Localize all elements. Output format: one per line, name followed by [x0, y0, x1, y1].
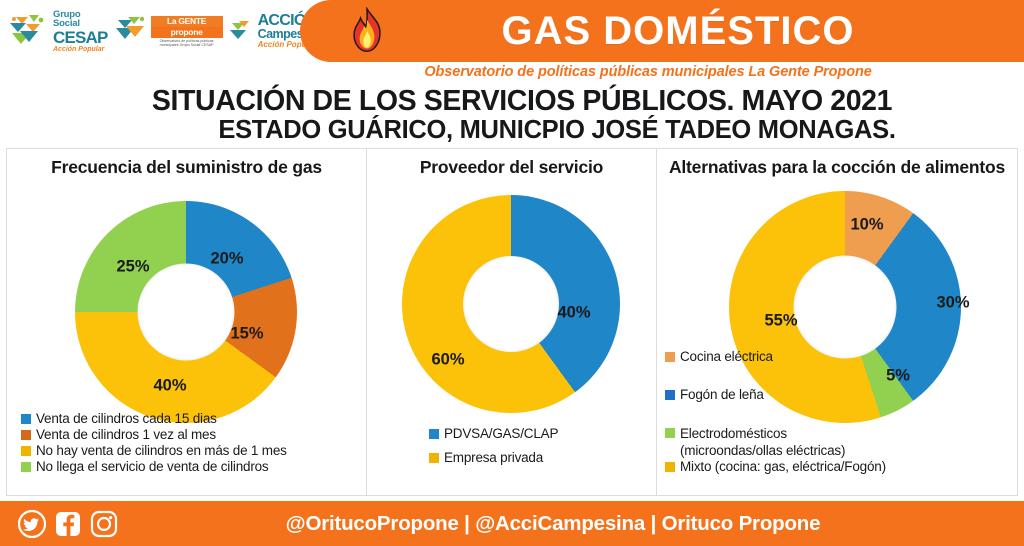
accion-campesina-logo-icon: [229, 14, 255, 48]
legend-swatch-blue: [21, 414, 31, 424]
logo-cesap-line3: Acción Popular: [53, 46, 108, 53]
legend-swatch-yellow: [429, 453, 439, 463]
legend-label: Mixto (cocina: gas, eléctrica/Fogón): [680, 459, 886, 475]
facebook-icon[interactable]: [55, 511, 81, 537]
donut-3-label-1: 30%: [936, 294, 969, 313]
legend-swatch-green: [665, 428, 675, 438]
donut-2-label-0: 40%: [557, 304, 590, 323]
donut-1-hole: [138, 264, 235, 361]
legend-label: Venta de cilindros 1 vez al mes: [36, 427, 216, 443]
legend-item: No hay venta de cilindros en más de 1 me…: [21, 443, 365, 459]
logo-propone-line1: La GENTE: [151, 16, 223, 27]
legend-label: PDVSA/GAS/CLAP: [444, 426, 558, 442]
legend-item: Electrodomésticos (microondas/ollas eléc…: [665, 425, 1017, 459]
donut-3-label-0: 10%: [850, 216, 883, 235]
instagram-icon[interactable]: [90, 510, 118, 538]
chart-panel-proveedor: Proveedor del servicio 40% 60% PDVSA/GAS…: [367, 149, 657, 495]
footer-handles: @OritucoPropone | @AcciCampesina | Oritu…: [118, 512, 1024, 536]
donut-chart-1: 20% 15% 40% 25%: [75, 201, 297, 423]
donut-3-hole: [794, 256, 897, 359]
legend-item: Mixto (cocina: gas, eléctrica/Fogón): [665, 459, 1017, 475]
page-title-line1: SITUACIÓN DE LOS SERVICIOS PÚBLICOS. MAY…: [0, 86, 1024, 116]
banner-bar: GAS DOMÉSTICO: [300, 0, 1024, 62]
banner-title: GAS DOMÉSTICO: [390, 9, 1024, 54]
flame-icon: [344, 7, 390, 55]
page-title: SITUACIÓN DE LOS SERVICIOS PÚBLICOS. MAY…: [0, 86, 1024, 144]
legend-swatch-blue: [665, 390, 675, 400]
logo-propone-line3: Observatorio de políticas públicas munic…: [151, 39, 223, 47]
legend-item: PDVSA/GAS/CLAP: [429, 426, 558, 442]
charts-container: Frecuencia del suministro de gas 20% 15%…: [6, 148, 1018, 496]
legend-swatch-yellow: [21, 446, 31, 456]
legend-label: Venta de cilindros cada 15 dias: [36, 411, 217, 427]
chart-panel-frecuencia: Frecuencia del suministro de gas 20% 15%…: [7, 149, 367, 495]
chart-title-2: Proveedor del servicio: [367, 149, 656, 177]
banner-subtitle: Observatorio de políticas públicas munic…: [286, 64, 1010, 80]
chart-panel-alternativas: Alternativas para la cocción de alimento…: [657, 149, 1017, 495]
legend-item: Venta de cilindros cada 15 dias: [21, 411, 365, 427]
chart-title-1: Frecuencia del suministro de gas: [7, 149, 366, 177]
page-header: Grupo Social CESAP Acción Popular La GEN…: [0, 0, 1024, 150]
donut-1-label-2: 40%: [153, 377, 186, 396]
cesap-logo-icon: [8, 11, 50, 51]
logo-cesap-line1: Grupo Social: [53, 10, 108, 29]
legend-label: Electrodomésticos: [680, 426, 787, 441]
legend-swatch-light-orange: [665, 352, 675, 362]
legend-swatch-orange: [21, 430, 31, 440]
donut-1-label-1: 15%: [230, 325, 263, 344]
donut-1-label-0: 20%: [210, 250, 243, 269]
page-title-line2: ESTADO GUÁRICO, MUNICPIO JOSÉ TADEO MONA…: [0, 116, 1024, 144]
legend-item: Fogón de leña: [665, 387, 1017, 403]
donut-2-label-1: 60%: [431, 351, 464, 370]
donut-1-label-3: 25%: [116, 258, 149, 277]
legend-item: No llega el servicio de venta de cilindr…: [21, 459, 365, 475]
la-gente-propone-logo-icon: [114, 12, 148, 50]
chart-legend-3: Cocina eléctrica Fogón de leña Electrodo…: [665, 349, 1017, 475]
legend-label: Cocina eléctrica: [680, 349, 773, 365]
chart-legend-1: Venta de cilindros cada 15 dias Venta de…: [21, 411, 365, 475]
social-links: [18, 510, 118, 538]
donut-3-label-3: 55%: [764, 312, 797, 331]
legend-label: No hay venta de cilindros en más de 1 me…: [36, 443, 287, 459]
logo-cesap-line2: CESAP: [53, 29, 108, 46]
legend-item: Cocina eléctrica: [665, 349, 1017, 365]
page-footer: @OritucoPropone | @AcciCampesina | Oritu…: [0, 501, 1024, 546]
legend-sublabel: (microondas/ollas eléctricas): [680, 443, 845, 459]
legend-label: Fogón de leña: [680, 387, 764, 403]
legend-swatch-green: [21, 462, 31, 472]
donut-chart-2: 40% 60%: [402, 195, 620, 413]
legend-label: No llega el servicio de venta de cilindr…: [36, 459, 268, 475]
chart-title-3: Alternativas para la cocción de alimento…: [657, 149, 1017, 177]
legend-item: Empresa privada: [429, 450, 558, 466]
donut-2-hole: [463, 256, 559, 352]
legend-label: Empresa privada: [444, 450, 543, 466]
logo-la-gente-propone: La GENTE propone Observatorio de polític…: [114, 12, 223, 50]
chart-legend-2: PDVSA/GAS/CLAP Empresa privada: [429, 426, 558, 466]
legend-swatch-yellow: [665, 462, 675, 472]
legend-swatch-blue: [429, 429, 439, 439]
legend-item: Venta de cilindros 1 vez al mes: [21, 427, 365, 443]
logo-row: Grupo Social CESAP Acción Popular La GEN…: [0, 0, 310, 62]
logo-propone-line2: propone: [151, 27, 223, 38]
twitter-icon[interactable]: [18, 510, 46, 538]
logo-cesap: Grupo Social CESAP Acción Popular: [8, 10, 108, 53]
